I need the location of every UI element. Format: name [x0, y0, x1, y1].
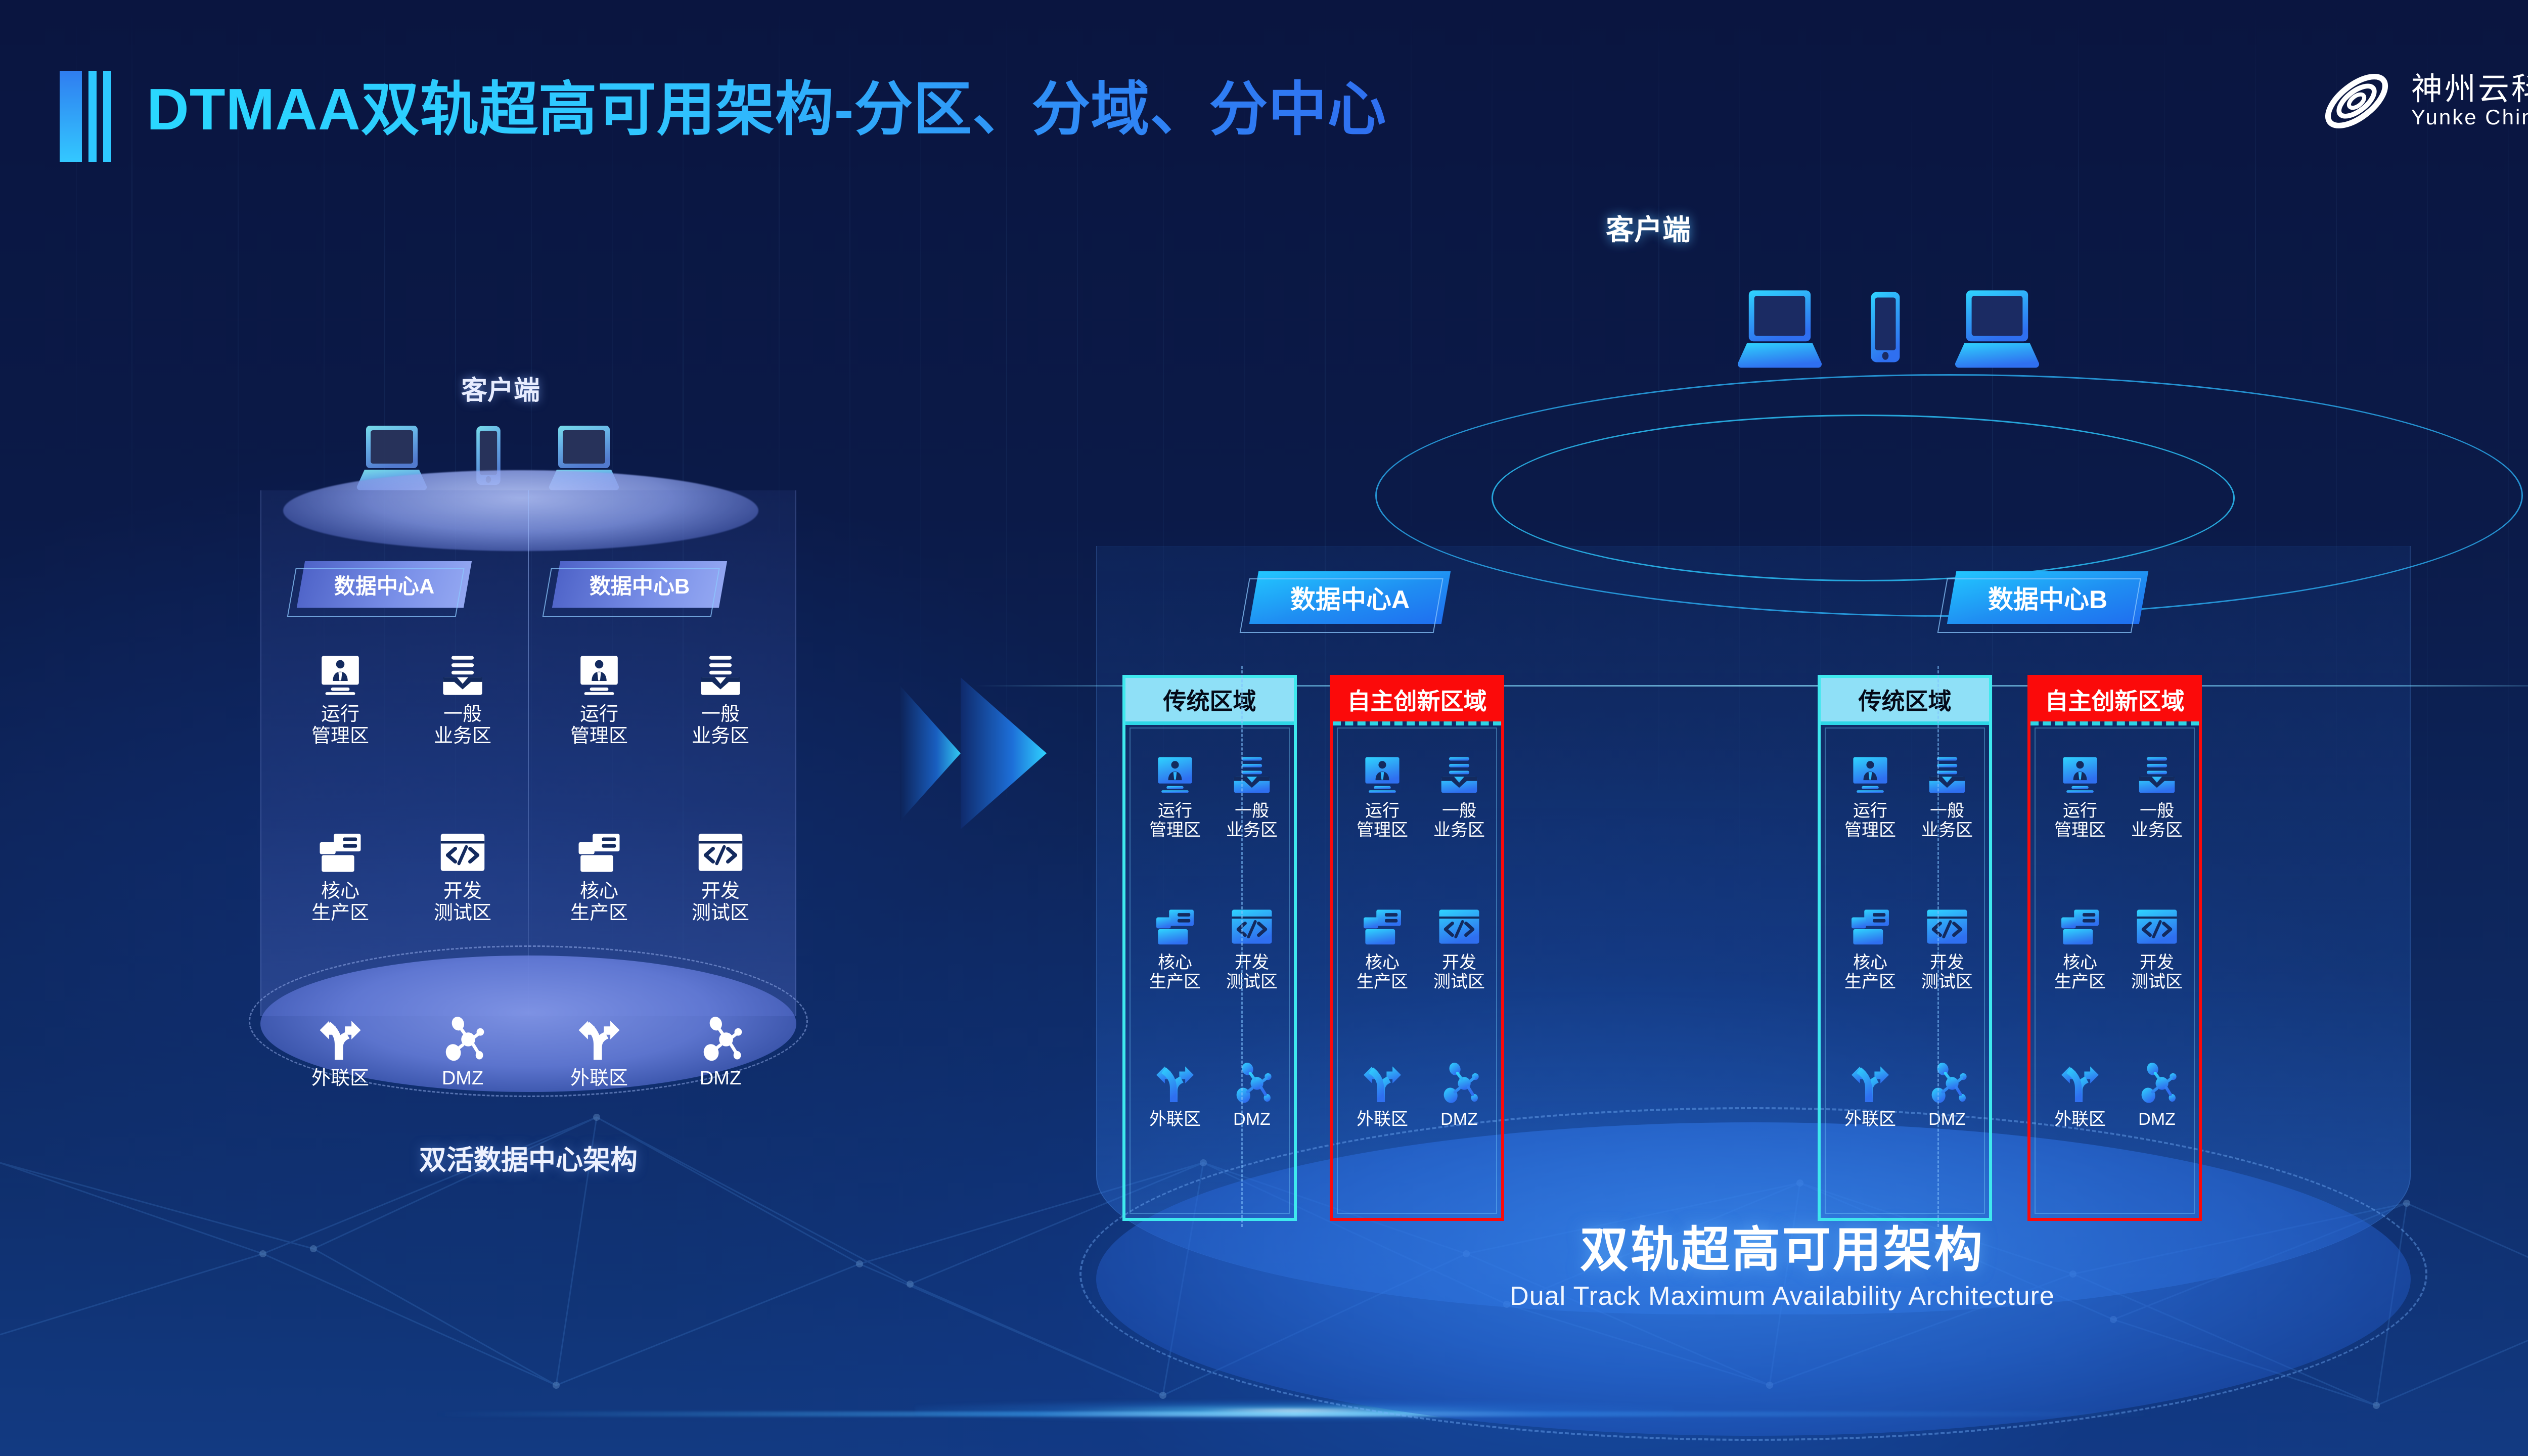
- right-zone-6[interactable]: DMZ: [1424, 1062, 1495, 1129]
- left-center-divider: [528, 490, 529, 1016]
- laptop-icon: [1734, 283, 1825, 374]
- right-zone-label: 外联区: [2054, 1110, 2106, 1129]
- region-panel-innovation[interactable]: 自主创新区域运行 管理区一般 业务区核心 生产区开发 测试区外联区DMZ: [1330, 675, 1504, 1221]
- monitor-person-icon: [1849, 754, 1891, 796]
- network-node-icon: [697, 1016, 744, 1063]
- left-zone-5[interactable]: 外联区: [297, 1016, 383, 1089]
- server-rack-icon: [1849, 905, 1891, 948]
- network-node-icon: [439, 1016, 486, 1063]
- region-header-rule: [1333, 721, 1501, 725]
- right-zone-label: 开发 测试区: [1921, 953, 1973, 991]
- right-client-device: [1845, 287, 1925, 370]
- network-node-icon: [1438, 1062, 1480, 1105]
- left-zone-2[interactable]: 一般 业务区: [678, 652, 763, 747]
- right-zone-label: DMZ: [1233, 1110, 1271, 1129]
- left-zone-label: 外联区: [570, 1068, 628, 1089]
- branch-arrows-icon: [1154, 1062, 1196, 1105]
- server-rack-icon: [1361, 905, 1404, 948]
- inbox-tray-icon: [1926, 754, 1968, 796]
- right-zone-label: 一般 业务区: [1226, 801, 1278, 840]
- inbox-tray-icon: [2136, 754, 2178, 796]
- right-zone-label: 核心 生产区: [1149, 953, 1201, 991]
- left-zone-6[interactable]: DMZ: [678, 1016, 763, 1089]
- branch-arrows-icon: [576, 1016, 622, 1063]
- left-datacenter-tag[interactable]: 数据中心A: [297, 561, 472, 608]
- logo-text-cn: 神州云科: [2411, 74, 2528, 105]
- right-zone-1[interactable]: 运行 管理区: [1347, 754, 1418, 840]
- region-separator: [1241, 666, 1243, 1227]
- left-zone-label: 运行 管理区: [311, 704, 369, 747]
- right-zone-label: DMZ: [1440, 1110, 1478, 1129]
- left-zone-label: 核心 生产区: [311, 881, 369, 924]
- region-panel-traditional[interactable]: 传统区域运行 管理区一般 业务区核心 生产区开发 测试区外联区DMZ: [1122, 675, 1297, 1221]
- left-zone-1[interactable]: 运行 管理区: [297, 652, 383, 747]
- left-caption: 双活数据中心架构: [281, 1137, 776, 1177]
- code-window-icon: [439, 829, 486, 876]
- server-rack-icon: [2059, 905, 2101, 948]
- right-zone-label: 核心 生产区: [2054, 953, 2106, 991]
- code-window-icon: [1231, 905, 1273, 948]
- right-zone-label: 外联区: [1357, 1110, 1408, 1129]
- network-node-icon: [2136, 1062, 2178, 1105]
- left-zone-2[interactable]: 一般 业务区: [420, 652, 506, 747]
- server-rack-icon: [317, 829, 364, 876]
- logo-text-en: Yunke China: [2411, 106, 2528, 128]
- right-zone-2[interactable]: 一般 业务区: [1912, 754, 1982, 840]
- right-architecture-diagram: 客户端 数据中心A数据中心B 传统区域运行 管理区一般 业务区核心 生产区开发 …: [976, 131, 2528, 1345]
- code-window-icon: [697, 829, 744, 876]
- monitor-person-icon: [1154, 754, 1196, 796]
- branch-arrows-icon: [1361, 1062, 1404, 1105]
- right-zone-label: 一般 业务区: [2131, 801, 2183, 840]
- left-zone-label: 外联区: [311, 1068, 369, 1089]
- inbox-tray-icon: [439, 652, 486, 699]
- right-zone-6[interactable]: DMZ: [1912, 1062, 1982, 1129]
- inbox-tray-icon: [1231, 754, 1273, 796]
- left-zone-label: 开发 测试区: [434, 881, 491, 924]
- left-zone-3[interactable]: 核心 生产区: [556, 829, 642, 924]
- right-zone-2[interactable]: 一般 业务区: [1216, 754, 1287, 840]
- left-architecture-diagram: 客户端 数据中心A数据中心B 运行 管理区一般 业务区核心 生产区开发 测试区外…: [0, 167, 910, 1279]
- network-node-icon: [1231, 1062, 1273, 1105]
- right-zone-label: 外联区: [1844, 1110, 1896, 1129]
- right-zone-5[interactable]: 外联区: [1835, 1062, 1906, 1129]
- laptop-icon: [1952, 283, 2043, 374]
- bottom-headline: 双轨超高可用架构 Dual Track Maximum Availability…: [976, 1223, 2528, 1311]
- left-zone-3[interactable]: 核心 生产区: [297, 829, 383, 924]
- server-rack-icon: [1154, 905, 1196, 948]
- left-datacenter-tag-label: 数据中心B: [590, 569, 690, 600]
- title-accent-bars-icon: [60, 71, 111, 162]
- left-zone-label: 开发 测试区: [692, 881, 749, 924]
- left-datacenter-tag-label: 数据中心A: [334, 569, 434, 600]
- right-datacenter-tag-label: 数据中心B: [1988, 579, 2107, 616]
- right-zone-1[interactable]: 运行 管理区: [1835, 754, 1906, 840]
- right-zone-3[interactable]: 核心 生产区: [2045, 905, 2115, 991]
- network-node-icon: [1926, 1062, 1968, 1105]
- left-zone-1[interactable]: 运行 管理区: [556, 652, 642, 747]
- left-zone-label: 一般 业务区: [434, 704, 491, 747]
- left-zone-4[interactable]: 开发 测试区: [678, 829, 763, 924]
- left-zone-label: 运行 管理区: [570, 704, 628, 747]
- left-zone-6[interactable]: DMZ: [420, 1016, 506, 1089]
- right-zone-label: 一般 业务区: [1921, 801, 1973, 840]
- right-zone-4[interactable]: 开发 测试区: [1216, 905, 1287, 991]
- region-panel-traditional[interactable]: 传统区域运行 管理区一般 业务区核心 生产区开发 测试区外联区DMZ: [1818, 675, 1992, 1221]
- code-window-icon: [1926, 905, 1968, 948]
- right-zone-label: 一般 业务区: [1433, 801, 1485, 840]
- region-separator: [1937, 666, 1939, 1227]
- code-window-icon: [1438, 905, 1480, 948]
- right-client-ellipse-inner: [1492, 415, 2235, 581]
- right-zone-1[interactable]: 运行 管理区: [2045, 754, 2115, 840]
- region-header-rule: [2030, 721, 2199, 725]
- monitor-person-icon: [2059, 754, 2101, 796]
- monitor-person-icon: [1361, 754, 1404, 796]
- right-zone-label: 开发 测试区: [1433, 953, 1485, 991]
- left-zone-label: 一般 业务区: [692, 704, 749, 747]
- right-zone-5[interactable]: 外联区: [1347, 1062, 1418, 1129]
- monitor-person-icon: [317, 652, 364, 699]
- region-header: 自主创新区域: [2030, 678, 2199, 721]
- left-client-label: 客户端: [415, 369, 586, 407]
- right-zone-3[interactable]: 核心 生产区: [1140, 905, 1210, 991]
- server-rack-icon: [576, 829, 622, 876]
- right-zone-label: DMZ: [2138, 1110, 2176, 1129]
- left-zone-4[interactable]: 开发 测试区: [420, 829, 506, 924]
- right-datacenter-tag[interactable]: 数据中心B: [1947, 571, 2148, 624]
- right-zone-4[interactable]: 开发 测试区: [1424, 905, 1495, 991]
- monitor-person-icon: [576, 652, 622, 699]
- branch-arrows-icon: [317, 1016, 364, 1063]
- right-zone-label: 运行 管理区: [1844, 801, 1896, 840]
- right-zone-3[interactable]: 核心 生产区: [1835, 905, 1906, 991]
- phone-icon: [1845, 287, 1925, 367]
- right-zone-2[interactable]: 一般 业务区: [1424, 754, 1495, 840]
- brand-logo: 神州云科 Yunke China: [2316, 61, 2528, 142]
- right-zone-3[interactable]: 核心 生产区: [1347, 905, 1418, 991]
- right-zone-label: 核心 生产区: [1357, 953, 1408, 991]
- right-client-label: 客户端: [1542, 207, 1754, 248]
- right-zone-4[interactable]: 开发 测试区: [2121, 905, 2192, 991]
- right-client-device: [1734, 283, 1825, 377]
- right-datacenter-tag-label: 数据中心A: [1290, 579, 1410, 616]
- right-datacenter-tag[interactable]: 数据中心A: [1249, 571, 1451, 624]
- right-zone-1[interactable]: 运行 管理区: [1140, 754, 1210, 840]
- inbox-tray-icon: [697, 652, 744, 699]
- right-zone-label: 外联区: [1149, 1110, 1201, 1129]
- region-panel-innovation[interactable]: 自主创新区域运行 管理区一般 业务区核心 生产区开发 测试区外联区DMZ: [2027, 675, 2202, 1221]
- left-zone-label: DMZ: [442, 1068, 483, 1089]
- swirl-at-logo-icon: [2316, 61, 2397, 142]
- right-zone-4[interactable]: 开发 测试区: [1912, 905, 1982, 991]
- right-zone-5[interactable]: 外联区: [1140, 1062, 1210, 1129]
- right-zone-6[interactable]: DMZ: [2121, 1062, 2192, 1129]
- branch-arrows-icon: [2059, 1062, 2101, 1105]
- right-zone-5[interactable]: 外联区: [2045, 1062, 2115, 1129]
- branch-arrows-icon: [1849, 1062, 1891, 1105]
- right-client-device: [1952, 283, 2043, 377]
- code-window-icon: [2136, 905, 2178, 948]
- bottom-headline-cn: 双轨超高可用架构: [976, 1223, 2528, 1277]
- right-zone-6[interactable]: DMZ: [1216, 1062, 1287, 1129]
- right-zone-label: 运行 管理区: [1357, 801, 1408, 840]
- right-zone-label: 开发 测试区: [1226, 953, 1278, 991]
- region-header: 传统区域: [1125, 678, 1294, 721]
- left-zone-5[interactable]: 外联区: [556, 1016, 642, 1089]
- region-header-rule: [1821, 721, 1989, 725]
- right-zone-2[interactable]: 一般 业务区: [2121, 754, 2192, 840]
- bottom-headline-en: Dual Track Maximum Availability Architec…: [976, 1281, 2528, 1311]
- region-header-rule: [1125, 721, 1294, 725]
- inbox-tray-icon: [1438, 754, 1480, 796]
- right-zone-label: 运行 管理区: [2054, 801, 2106, 840]
- left-datacenter-tag[interactable]: 数据中心B: [552, 561, 727, 608]
- region-header: 传统区域: [1821, 678, 1989, 721]
- right-zone-label: 运行 管理区: [1149, 801, 1201, 840]
- right-zone-label: DMZ: [1928, 1110, 1966, 1129]
- right-zone-label: 核心 生产区: [1844, 953, 1896, 991]
- left-zone-label: 核心 生产区: [570, 881, 628, 924]
- right-zone-label: 开发 测试区: [2131, 953, 2183, 991]
- region-header: 自主创新区域: [1333, 678, 1501, 721]
- left-zone-label: DMZ: [700, 1068, 741, 1089]
